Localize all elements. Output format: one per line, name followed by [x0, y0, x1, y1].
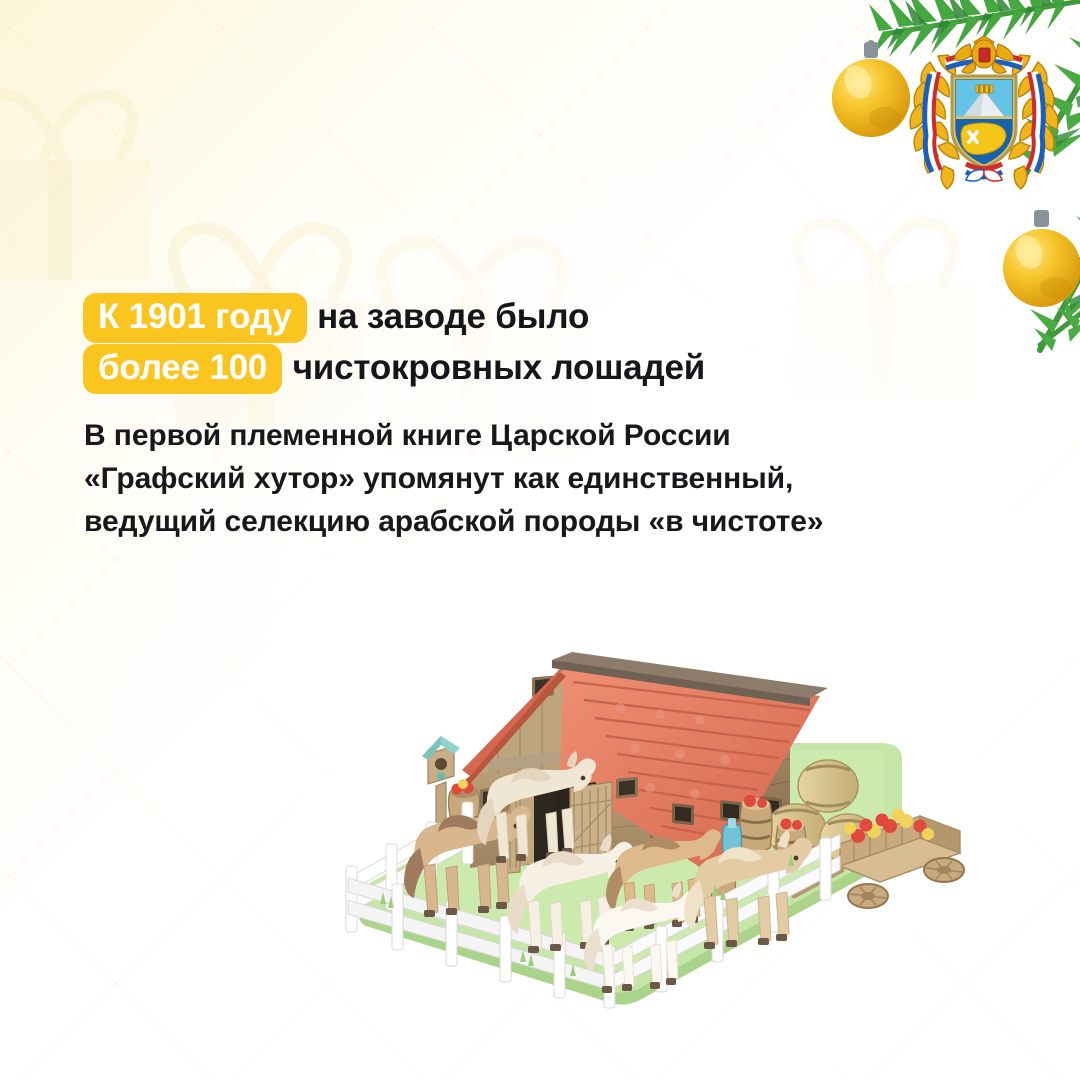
headline-badge-year: К 1901 году: [83, 293, 307, 343]
body-line-3: ведущий селекцию арабской породы «в чист…: [84, 500, 914, 543]
poster-canvas: К 1901 году на заводе было более 100 чис…: [0, 0, 1080, 1080]
gift-watermark-3: [0, 40, 190, 320]
fir-branch-right-mid: [985, 120, 1080, 390]
body-line-1: В первой племенной книге Царской России: [84, 414, 914, 457]
fir-branch-lower-right: [1000, 250, 1080, 370]
body-text-block: В первой племенной книге Царской России …: [84, 414, 914, 543]
gold-bauble-ornament-2: [1000, 208, 1080, 314]
headline-middle-text: на заводе было: [317, 297, 589, 336]
gift-watermark-4: [760, 170, 1010, 440]
headline-block: К 1901 году на заводе было более 100 чис…: [82, 292, 782, 394]
body-line-2: «Графский хутор» упомянут как единственн…: [84, 457, 914, 500]
fir-branch-top: [735, 0, 1080, 202]
fir-branch-corner: [930, 0, 1080, 260]
gold-bauble-ornament-1: [828, 40, 914, 144]
headline-badge-count: более 100: [83, 344, 282, 394]
stavropol-coat-of-arms: [900, 28, 1068, 194]
horse-farm-illustration: [320, 548, 980, 1018]
headline-tail-text: чистокровных лошадей: [293, 348, 705, 387]
